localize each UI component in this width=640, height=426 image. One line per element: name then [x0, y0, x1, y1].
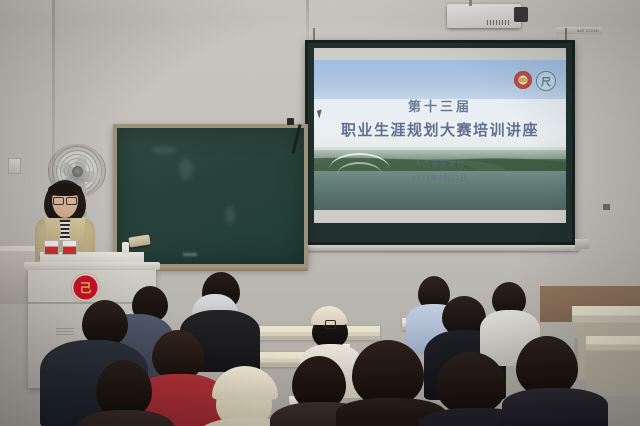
society-mark-logo: 尺	[536, 71, 556, 91]
screen-hanger-right	[565, 28, 567, 40]
eyeglasses-icon	[53, 197, 77, 203]
slide-date: 2023年3月23日	[314, 173, 566, 183]
screen-hanger-left	[313, 28, 315, 40]
student-torso	[502, 388, 608, 426]
slide-title-line2: 职业生涯规划大赛培训讲座	[314, 119, 566, 140]
chalk-dust	[183, 253, 197, 256]
student-head	[516, 336, 578, 396]
board-smudge-3	[225, 206, 235, 224]
classroom-photo: AIR COND 尺 第十三届 职业生涯规划大赛培训讲座	[0, 0, 640, 426]
water-bottle[interactable]	[122, 242, 129, 254]
chalkboard-eraser[interactable]	[128, 234, 150, 247]
pointer-stick[interactable]	[291, 124, 301, 154]
ceiling-band	[0, 0, 640, 20]
presenter-fringe	[48, 183, 82, 196]
tissue-box[interactable]	[62, 240, 77, 255]
school-crest-logo	[514, 71, 532, 89]
slide-organizer: 人力资源学社	[314, 159, 566, 169]
board-smudge-2	[179, 158, 193, 180]
projected-slide: 尺 第十三届 职业生涯规划大赛培训讲座 人力资源学社 2023年3月23日	[314, 60, 566, 210]
desk-row-right-2	[586, 336, 640, 396]
cap-strap	[325, 320, 336, 329]
screen-pull-tab	[575, 239, 589, 249]
school-crest-inner	[519, 77, 527, 82]
ac-brand-label: AIR COND	[577, 28, 599, 33]
university-crest-emblem: 己	[72, 274, 99, 301]
projector-vent	[487, 20, 509, 25]
podium-top-lip	[24, 262, 160, 270]
screen-bottom-weight-bar	[293, 245, 579, 251]
screen-surface: 尺 第十三届 职业生涯规划大赛培训讲座 人力资源学社 2023年3月23日	[314, 48, 566, 223]
projector-mount-arm	[469, 0, 472, 6]
projection-screen: 尺 第十三届 职业生涯规划大赛培训讲座 人力资源学社 2023年3月23日	[305, 40, 575, 245]
board-smudge-1	[151, 146, 177, 154]
student-head	[352, 340, 424, 406]
student-head	[152, 330, 204, 380]
student-head	[436, 352, 506, 414]
fan-hub	[72, 166, 83, 177]
slide-title-line1: 第十三届	[314, 96, 566, 115]
air-conditioner-unit: AIR COND	[556, 27, 602, 34]
wall-outlet[interactable]	[8, 158, 21, 174]
ceiling-projector	[447, 4, 521, 28]
podium-vent	[56, 328, 74, 335]
wall-hook	[603, 204, 610, 210]
tissue-box[interactable]	[44, 240, 59, 255]
wall-seam-center	[306, 0, 309, 40]
emblem-glyph: 己	[79, 282, 91, 294]
board-clip	[287, 118, 294, 125]
projector-lens	[514, 7, 528, 22]
blackboard	[113, 124, 308, 268]
society-mark-glyph: 尺	[541, 73, 551, 88]
eyeglasses-icon	[148, 305, 170, 311]
